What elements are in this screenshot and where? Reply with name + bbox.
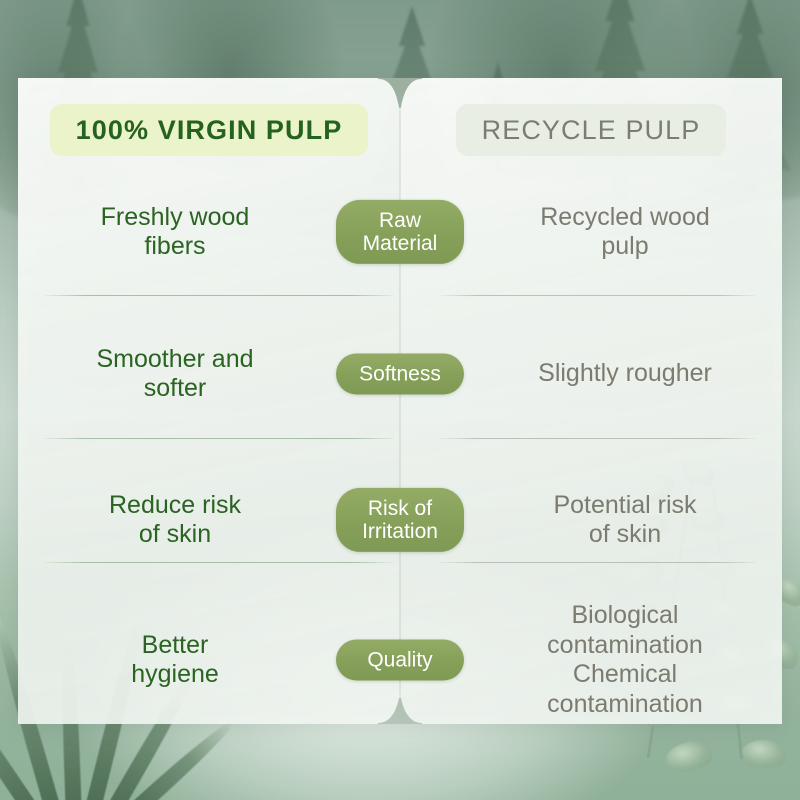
foliage-leaf: [740, 737, 787, 771]
grass-blade: [0, 712, 17, 800]
book-spine-notch-bottom-icon: [378, 698, 422, 724]
card-page-right: [400, 78, 782, 724]
header-badge-virgin-pulp: 100% VIRGIN PULP: [50, 104, 369, 156]
grass-blade: [119, 714, 241, 800]
foliage-leaf: [664, 739, 714, 774]
header-row: RECYCLE PULP: [400, 104, 782, 156]
header-badge-recycle-pulp: RECYCLE PULP: [456, 104, 727, 156]
header-row: 100% VIRGIN PULP: [18, 104, 400, 156]
card-page-left: [18, 78, 400, 724]
comparison-card: [18, 78, 782, 724]
